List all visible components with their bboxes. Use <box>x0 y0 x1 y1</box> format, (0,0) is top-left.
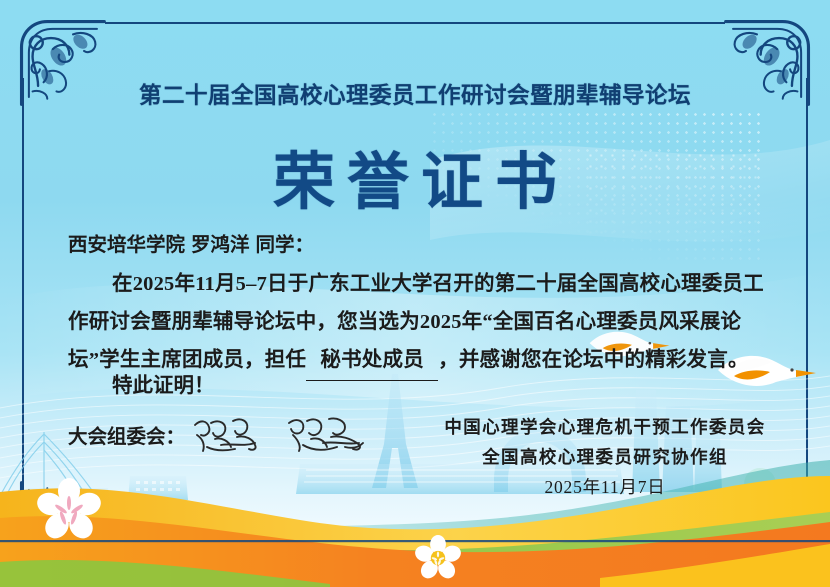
issue-date: 2025年11月7日 <box>405 472 805 503</box>
conference-title: 第二十届全国高校心理委员工作研讨会暨朋辈辅导论坛 <box>0 78 830 110</box>
recipient-suffix: 同学 <box>256 234 295 256</box>
body-line-1: 在2025年11月5–7日于广东工业大学召开的第二十届全国高校心理委员工 <box>68 265 768 303</box>
certificate-body: 在2025年11月5–7日于广东工业大学召开的第二十届全国高校心理委员工 作研讨… <box>68 265 768 381</box>
organizer-signature-block: 大会组委会： 詹启生 李永慧 <box>68 413 367 455</box>
recipient-name: 罗鸿洋 <box>191 234 250 256</box>
frame-rule-top <box>105 22 725 24</box>
page-title: 荣誉证书 <box>0 131 830 221</box>
body-line-2: 作研讨会暨朋辈辅导论坛中，您当选为2025年“全国百名心理委员风采展论 <box>68 303 768 341</box>
plum-blossom-icon <box>415 535 461 581</box>
signature-2: 李永慧 <box>285 413 367 455</box>
organizer-label: 大会组委会： <box>68 420 185 449</box>
issuing-authority-block: 中国心理学会心理危机干预工作委员会 全国高校心理委员研究协作组 2025年11月… <box>405 412 805 503</box>
recipient-salutation: 西安培华学院罗鸿洋同学： <box>68 228 314 257</box>
authority-line-2: 全国高校心理委员研究协作组 <box>405 442 805 472</box>
recipient-school: 西安培华学院 <box>68 234 185 256</box>
recipient-colon: ： <box>295 234 315 256</box>
role-blank-field[interactable]: 秘书处成员 <box>306 341 438 381</box>
plum-blossom-icon <box>37 478 101 542</box>
authority-line-1: 中国心理学会心理危机干预工作委员会 <box>405 412 805 442</box>
closing-statement: 特此证明！ <box>112 368 215 398</box>
honor-certificate: 第二十届全国高校心理委员工作研讨会暨朋辈辅导论坛 荣誉证书 西安培华学院罗鸿洋同… <box>0 0 830 587</box>
body-line-3-after: ，并感谢您在论坛中的精彩发言。 <box>438 349 749 371</box>
signature-1: 詹启生 <box>191 413 271 455</box>
